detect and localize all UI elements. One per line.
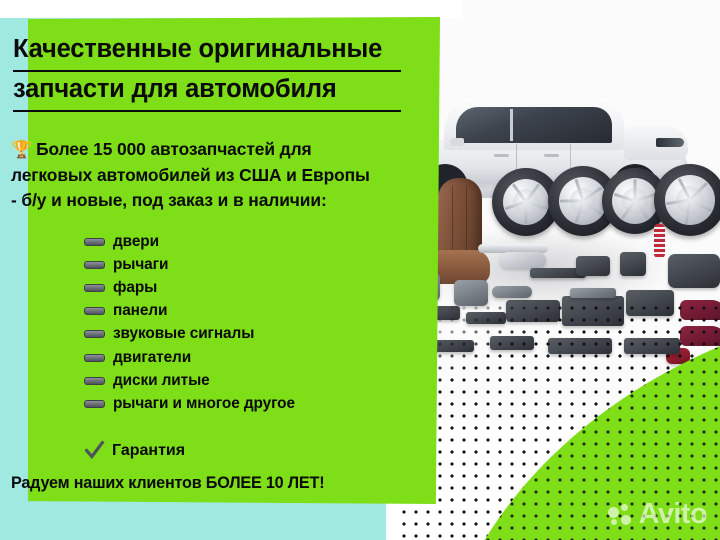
dash-marker-icon <box>84 284 105 292</box>
list-item: звуковые сигналы <box>84 323 414 346</box>
subheadline-line-2: легковых автомобилей из США и Европы <box>11 165 370 185</box>
dash-marker-icon <box>84 238 105 246</box>
hose-part <box>492 286 532 298</box>
dash-marker-icon <box>84 354 105 362</box>
wheel-rim <box>559 177 607 225</box>
checkmark-icon <box>84 440 105 461</box>
door-handle-icon <box>544 154 559 157</box>
subheadline: 🏆Более 15 000 автозапчастей для легковых… <box>11 137 431 214</box>
tagline: Радуем наших клиентов БОЛЕЕ 10 ЛЕТ! <box>11 474 451 493</box>
manifold-part <box>570 288 616 298</box>
headline-line-1: Качественные оригинальные <box>13 35 382 63</box>
dash-marker-icon <box>84 377 105 385</box>
subheadline-line-1: Более 15 000 автозапчастей для <box>36 139 312 159</box>
list-item-label: фары <box>113 279 157 297</box>
muffler-part <box>500 252 546 268</box>
list-item: двери <box>84 230 414 253</box>
motor-part <box>620 252 646 276</box>
list-item: рычаги <box>84 253 414 276</box>
headlight-icon <box>656 138 684 147</box>
wheel-rim <box>612 178 658 224</box>
wheel-rim <box>503 179 549 225</box>
list-item: двигатели <box>84 346 414 369</box>
dash-marker-icon <box>84 330 105 338</box>
avito-logo-icon <box>608 504 634 526</box>
dash-marker-icon <box>84 261 105 269</box>
headline-line-2: запчасти для автомобиля <box>13 75 337 103</box>
airbox-part <box>668 254 720 288</box>
list-item: фары <box>84 276 414 299</box>
list-item-label: рычаги и многое другое <box>113 395 295 413</box>
guarantee-row: Гарантия <box>84 440 185 461</box>
trophy-icon: 🏆 <box>11 140 32 159</box>
coil-spring <box>654 224 665 258</box>
list-item-label: диски литые <box>113 372 210 390</box>
list-item-label: панели <box>113 302 167 320</box>
list-item-label: двери <box>113 233 159 251</box>
car-windows <box>456 107 612 143</box>
door-handle-icon <box>494 154 509 157</box>
list-item: рычаги и многое другое <box>84 392 414 415</box>
parts-list: двери рычаги фары панели звуковые сигнал… <box>84 230 414 416</box>
list-item-label: рычаги <box>113 256 168 274</box>
wheel-rim <box>665 175 715 225</box>
dash-marker-icon <box>84 307 105 315</box>
battery-part <box>576 256 610 276</box>
advertisement-banner: Качественные оригинальные запчасти для а… <box>0 0 720 540</box>
avito-wordmark: Avito <box>639 500 707 529</box>
guarantee-label: Гарантия <box>112 442 185 460</box>
headline-rule <box>13 110 401 112</box>
list-item: панели <box>84 300 414 323</box>
list-item-label: звуковые сигналы <box>113 325 254 343</box>
list-item-label: двигатели <box>113 349 191 367</box>
subheadline-line-3: - б/у и новые, под заказ и в наличии: <box>11 190 327 210</box>
list-item: диски литые <box>84 369 414 392</box>
dash-marker-icon <box>84 400 105 408</box>
ad-content: Качественные оригинальные запчасти для а… <box>0 0 470 540</box>
page-title: Качественные оригинальные запчасти для а… <box>13 32 431 112</box>
avito-watermark: Avito <box>608 500 707 529</box>
